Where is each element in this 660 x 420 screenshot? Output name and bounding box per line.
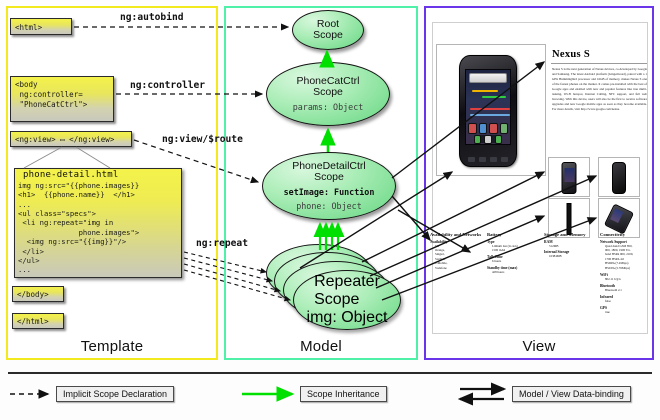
code-body-close: </body> — [12, 286, 64, 302]
spec-value: 1500 mAh — [492, 248, 505, 252]
scope-phonedetailctrl-prop-phone: phone: Object — [296, 201, 362, 211]
scope-phonecatctrl-name-2: Scope — [313, 86, 343, 98]
spec-value: Lithium Ion (Li-Ion) — [492, 244, 518, 248]
product-title: Nexus S — [552, 49, 590, 60]
phone-hardware-buttons — [465, 156, 511, 163]
spec-values: 802.11 b/g/n — [605, 277, 650, 281]
thumb-phone-back-icon — [612, 162, 626, 194]
spec-values: 6 hours — [492, 259, 539, 263]
spec-header: Storage and Memory — [544, 232, 596, 237]
spec-values: Lithium Ion (Li-Ion) 1500 mAh — [492, 244, 539, 253]
scope-phonedetailctrl-name-2: Scope — [314, 171, 344, 183]
scope-repeater-name-2: Scope — [314, 291, 359, 308]
phone-button — [479, 157, 486, 162]
edge-label-ng-view-route: ng:view/$route — [162, 134, 243, 145]
scope-repeater-name: Repeater Scope — [314, 273, 380, 309]
scope-repeater-name-1: Repeater — [314, 273, 380, 290]
phone-app-icon — [479, 123, 488, 134]
scope-phonedetailctrl-prop-setimage: setImage: Function — [284, 187, 375, 197]
phone-screen-line-3 — [470, 108, 510, 110]
scope-phonecatctrl-name-1: PhoneCatCtrl — [296, 75, 359, 87]
phone-app-icon — [468, 123, 477, 134]
phone-dock-icon — [474, 135, 481, 144]
spec-header: Battery — [487, 232, 539, 237]
legend-label-scope-inheritance: Scope Inheritance — [300, 386, 387, 402]
spec-values: Quad-band GSM 850, 900, 1800, 1900 Tri- … — [605, 244, 650, 271]
phone-detail-source: img ng:src="{{phone.images}} <h1> {{phon… — [15, 181, 181, 275]
spec-column-connectivity: Connectivity Network Support Quad-band G… — [600, 232, 650, 314]
spec-values: false — [605, 299, 650, 303]
spec-value: HSUPA (5.76Mbps) — [605, 266, 630, 270]
spec-value: Orange, — [435, 248, 445, 252]
legend-double-arrow-icon — [460, 389, 504, 399]
spec-values: 512MB — [549, 244, 596, 248]
spec-value: Singtel, — [435, 252, 445, 256]
spec-value: Quad-band GSM 850, — [605, 244, 632, 248]
edge-label-ng-autobind: ng:autobind — [120, 12, 184, 23]
phone-screen-line-4 — [470, 114, 510, 116]
scope-phonedetailctrl: PhoneDetailCtrl Scope setImage: Function… — [262, 152, 396, 220]
code-body-open: <body ng:controller= "PhoneCatCtrl"> — [10, 76, 114, 122]
scope-phonecatctrl: PhoneCatCtrl Scope params: Object — [266, 62, 390, 126]
scope-root-name: Root Scope — [313, 19, 343, 42]
spec-values: 16384MB — [549, 254, 596, 258]
spec-header: Connectivity — [600, 232, 650, 237]
scope-phonedetailctrl-name-1: PhoneDetailCtrl — [292, 160, 366, 172]
phone-button — [490, 157, 497, 162]
code-ngview: <ng:view> ▭ </ng:view> — [10, 131, 132, 147]
phone-app-icon — [500, 123, 509, 134]
phone-dock — [474, 135, 502, 143]
code-html-open: <html> — [10, 18, 72, 35]
phone-hero-image-frame — [436, 44, 546, 176]
thumb-phone-front-icon — [562, 162, 577, 194]
phone-screen — [465, 69, 511, 145]
legend-label-data-binding: Model / View Data-binding — [512, 386, 631, 402]
thumbnail-phone-back[interactable] — [598, 157, 640, 197]
thumbnail-phone-front[interactable] — [548, 157, 590, 197]
phone-app-row — [468, 123, 508, 134]
product-title-rule — [551, 63, 647, 64]
diagram-canvas: Template <html> <body ng:controller= "Ph… — [0, 0, 660, 420]
spec-column-battery: Battery Type Lithium Ion (Li-Ion) 1500 m… — [487, 232, 539, 274]
scope-phonecatctrl-name: PhoneCatCtrl Scope — [296, 76, 359, 99]
scope-phonedetailctrl-name: PhoneDetailCtrl Scope — [292, 161, 366, 184]
scope-root-name-2: Scope — [313, 29, 343, 41]
spec-column-storage: Storage and Memory RAM 512MB Internal St… — [544, 232, 596, 259]
spec-value: Starhub, — [435, 257, 445, 261]
phone-hero-image — [459, 55, 517, 167]
phone-button — [501, 157, 508, 162]
scope-root: Root Scope — [292, 10, 364, 50]
spec-values: SG Orange, Singtel, Starhub, T-Mobile, V… — [435, 244, 482, 271]
code-html-close: </html> — [12, 313, 64, 329]
spec-value: 900, 1800, 1900 Tri- — [605, 248, 631, 252]
product-description: Nexus S is the next generation of Nexus … — [552, 67, 647, 112]
scope-repeater-prop-img: img: Object — [307, 309, 388, 327]
legend-divider — [8, 372, 652, 374]
panel-view-label: View — [426, 338, 652, 355]
scope-repeater: Repeater Scope img: Object — [293, 270, 401, 330]
phone-button — [468, 157, 475, 162]
scope-repeater-stack: Repeater Scope img: Object — [266, 244, 400, 342]
phone-dock-icon — [484, 135, 491, 144]
spec-value: Vodafone — [435, 266, 447, 270]
spec-value: 1700 HSPA 4.0 — [605, 257, 624, 261]
legend-label-implicit-scope: Implicit Scope Declaration — [56, 386, 174, 402]
spec-value: SG — [435, 244, 439, 248]
phone-search-widget — [469, 73, 507, 83]
phone-app-icon — [489, 123, 498, 134]
phone-screen-line-1 — [472, 90, 498, 92]
code-phone-detail-callout: phone-detail.html img ng:src="{{phone.im… — [14, 168, 182, 278]
phone-detail-filename: phone-detail.html — [15, 169, 181, 181]
scope-phonecatctrl-prop-params: params: Object — [293, 102, 364, 112]
edge-label-ng-controller: ng:controller — [130, 80, 205, 91]
thumb-phone-angle-icon — [604, 203, 634, 234]
scope-root-name-1: Root — [317, 18, 339, 30]
spec-column-availability: Availability and Networks Availability S… — [430, 232, 482, 270]
spec-values: 428 hours — [492, 270, 539, 274]
spec-values: true — [605, 310, 650, 314]
thumb-phone-side-icon — [567, 203, 572, 235]
spec-values: Bluetooth 2.1 — [605, 288, 650, 292]
spec-value: band HSPA 900, 2100, — [605, 252, 633, 256]
phone-screen-line-2 — [482, 96, 506, 98]
spec-header: Availability and Networks — [430, 232, 482, 237]
spec-value: T-Mobile, — [435, 261, 447, 265]
panel-template-label: Template — [8, 338, 216, 355]
edge-label-ng-repeat: ng:repeat — [196, 238, 248, 249]
spec-value: HSDPA (7.2Mbps) — [605, 261, 628, 265]
phone-dock-icon — [495, 135, 502, 144]
